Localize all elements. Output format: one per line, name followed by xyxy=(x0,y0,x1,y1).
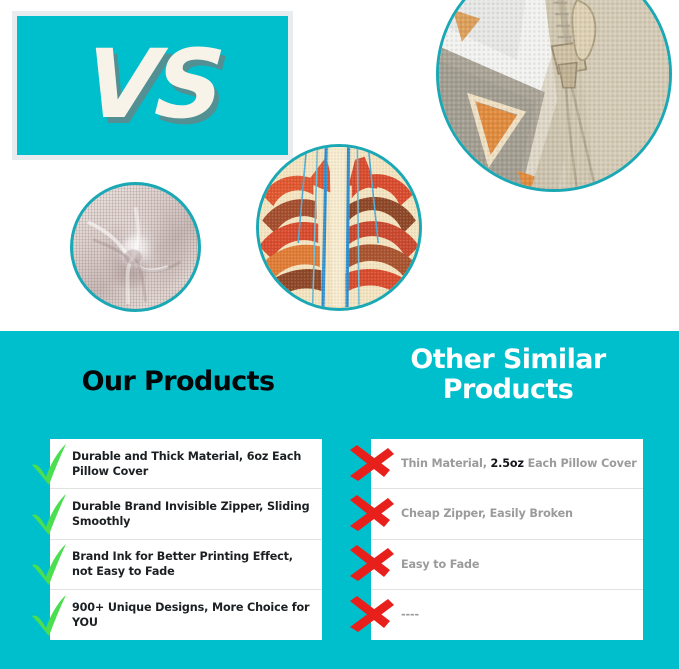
our-feature-row: Durable Brand Invisible Zipper, Sliding … xyxy=(50,489,322,539)
other-feature-text-before: Easy to Fade xyxy=(401,558,479,571)
other-feature-text-before: ---- xyxy=(401,608,419,621)
invisible-zipper-photo xyxy=(439,0,669,189)
fabric-swirl-lines xyxy=(73,185,198,309)
other-feature-row: Cheap Zipper, Easily Broken xyxy=(371,489,643,539)
hero-section: VS xyxy=(0,0,679,331)
other-feature-emphasis: 2.5oz xyxy=(491,457,524,470)
comparison-section: Our Products Other Similar Products Dura… xyxy=(0,331,679,669)
other-feature-text: Easy to Fade xyxy=(371,557,485,572)
other-feature-text: Cheap Zipper, Easily Broken xyxy=(371,506,579,521)
other-feature-text-before: Thin Material, xyxy=(401,457,491,470)
other-feature-row: ---- xyxy=(371,590,643,640)
our-feature-text: Durable and Thick Material, 6oz Each Pil… xyxy=(50,449,322,479)
our-products-heading: Our Products xyxy=(28,367,328,397)
printed-pattern-circle xyxy=(256,144,422,311)
other-feature-text-after: Each Pillow Cover xyxy=(524,457,637,470)
our-feature-text: Durable Brand Invisible Zipper, Sliding … xyxy=(50,499,322,529)
our-feature-text: 900+ Unique Designs, More Choice for YOU xyxy=(50,600,322,630)
our-feature-text: Brand Ink for Better Printing Effect, no… xyxy=(50,549,322,579)
other-feature-text-before: Cheap Zipper, Easily Broken xyxy=(401,507,573,520)
other-feature-text: ---- xyxy=(371,607,425,622)
other-feature-row: Easy to Fade xyxy=(371,540,643,590)
vs-label: VS xyxy=(82,38,223,133)
our-feature-row: Brand Ink for Better Printing Effect, no… xyxy=(50,540,322,590)
art-deco-fan-pattern xyxy=(259,147,419,307)
product-comparison-infographic: VS xyxy=(0,0,679,669)
other-products-card: Thin Material, 2.5oz Each Pillow Cover C… xyxy=(371,439,643,640)
our-feature-row: 900+ Unique Designs, More Choice for YOU xyxy=(50,590,322,640)
vs-banner: VS xyxy=(12,11,293,160)
other-products-heading: Other Similar Products xyxy=(358,345,658,405)
our-products-card: Durable and Thick Material, 6oz Each Pil… xyxy=(50,439,322,640)
other-feature-row: Thin Material, 2.5oz Each Pillow Cover xyxy=(371,439,643,489)
zipper-detail-circle xyxy=(436,0,672,192)
other-feature-text: Thin Material, 2.5oz Each Pillow Cover xyxy=(371,456,643,471)
our-feature-row: Durable and Thick Material, 6oz Each Pil… xyxy=(50,439,322,489)
fabric-texture-circle xyxy=(70,182,201,312)
